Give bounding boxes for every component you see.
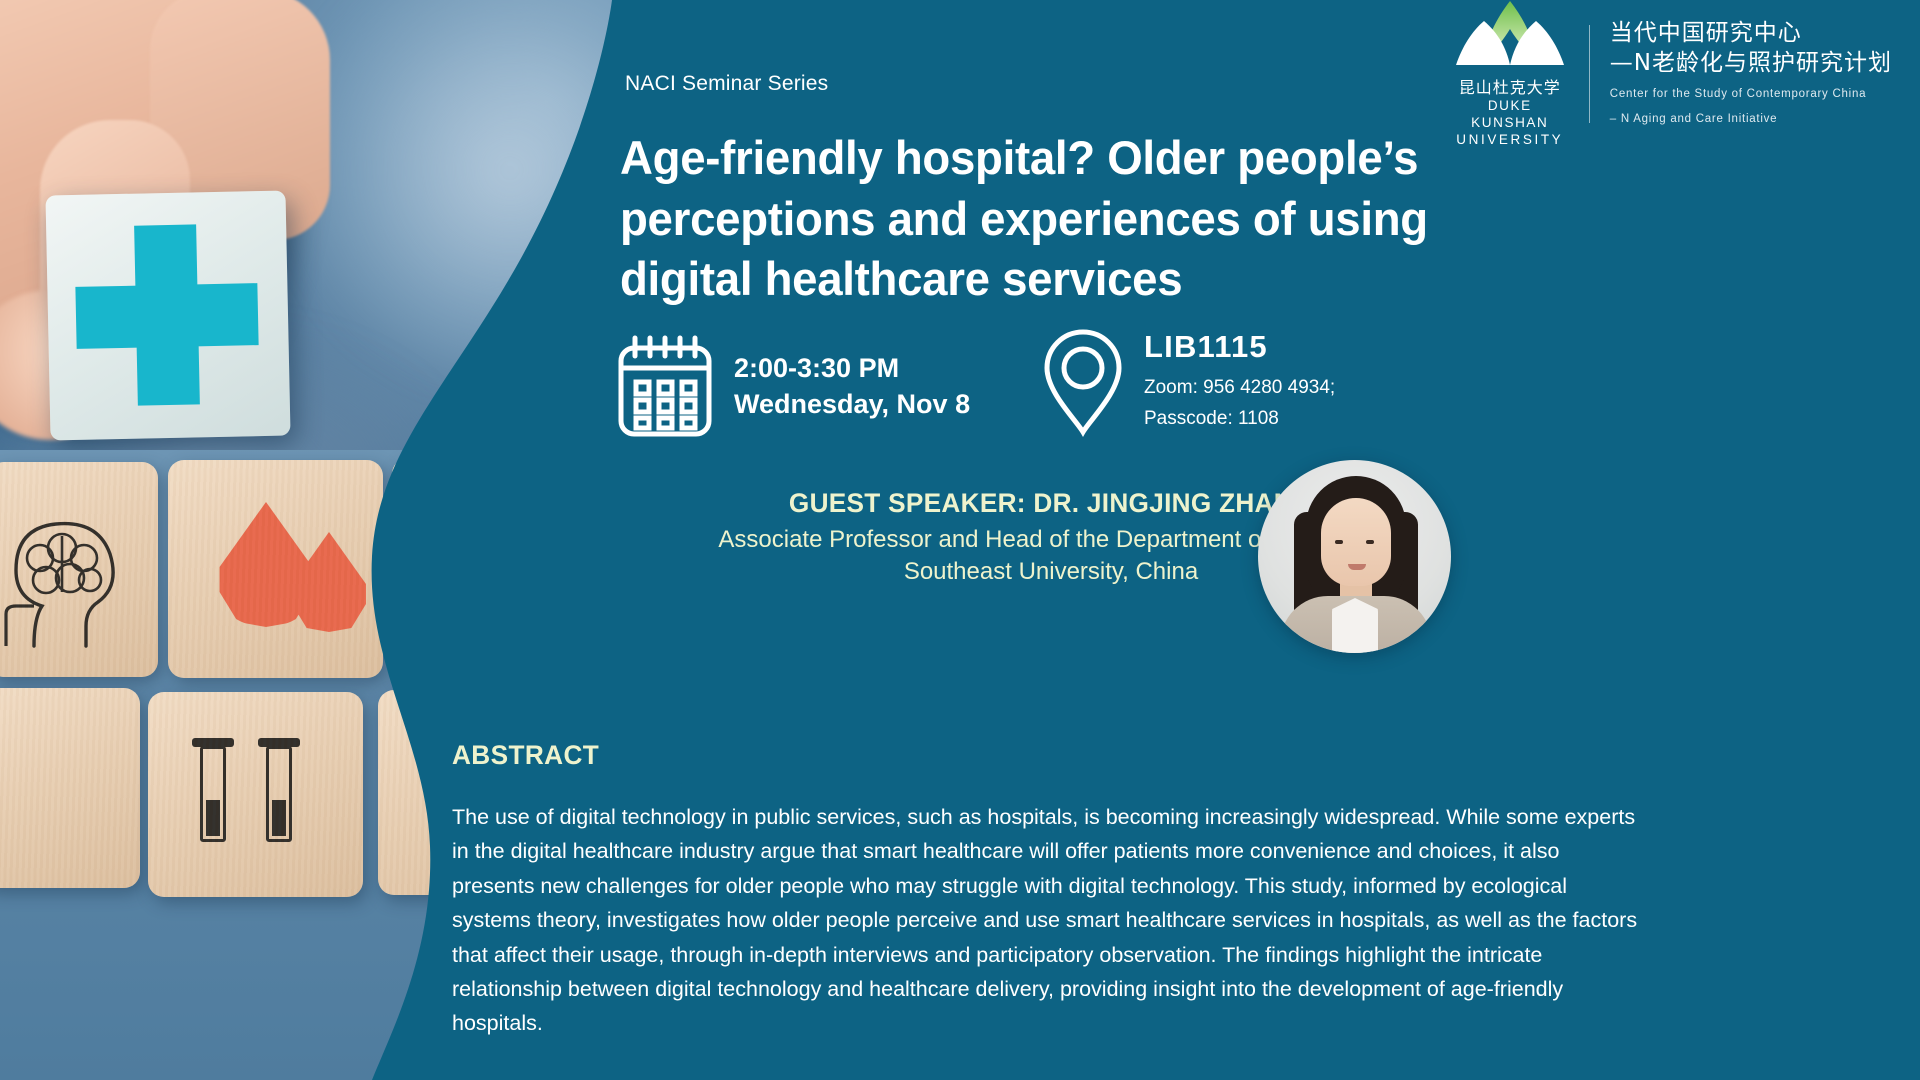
avatar-eye xyxy=(1335,540,1343,544)
series-kicker: NACI Seminar Series xyxy=(625,72,828,96)
datetime-text: 2:00-3:30 PM Wednesday, Nov 8 xyxy=(734,350,970,423)
wooden-cube xyxy=(392,458,542,678)
calendar-icon xyxy=(612,334,718,438)
syringe-icon xyxy=(200,746,226,842)
wooden-cube xyxy=(148,692,363,897)
abstract-heading: ABSTRACT xyxy=(452,740,599,771)
event-meta-row: 2:00-3:30 PM Wednesday, Nov 8 LIB1115 Zo… xyxy=(620,330,1520,450)
brain-head-icon xyxy=(0,506,144,656)
speaker-section: GUEST SPEAKER: DR. JINGJING ZHANG Associ… xyxy=(620,488,1500,589)
poster-content: NACI Seminar Series Age-friendly hospita… xyxy=(620,0,1920,1080)
seminar-poster: 昆山杜克大学 DUKE KUNSHAN UNIVERSITY 当代中国研究中心 … xyxy=(0,0,1920,1080)
avatar-shirt xyxy=(1332,598,1378,653)
avatar-face xyxy=(1321,498,1391,586)
syringe-icon xyxy=(266,746,292,842)
event-date: Wednesday, Nov 8 xyxy=(734,386,970,422)
avatar-mouth xyxy=(1348,564,1366,570)
location-text: LIB1115 Zoom: 956 4280 4934; Passcode: 1… xyxy=(1144,330,1335,435)
blood-drop-icon xyxy=(212,502,320,627)
event-zoom-id: Zoom: 956 4280 4934; xyxy=(1144,373,1335,404)
wooden-cube xyxy=(168,460,383,678)
page-title: Age-friendly hospital? Older people’s pe… xyxy=(620,128,1454,310)
map-pin-icon xyxy=(1038,326,1128,438)
avatar-eye xyxy=(1366,540,1374,544)
medical-cross-block xyxy=(45,191,290,441)
abstract-body: The use of digital technology in public … xyxy=(452,800,1642,1041)
wooden-cube xyxy=(0,462,158,677)
wooden-cube xyxy=(0,688,140,888)
medical-cross-icon xyxy=(75,283,258,349)
event-time: 2:00-3:30 PM xyxy=(734,350,970,386)
avatar xyxy=(1258,460,1451,653)
event-datetime: 2:00-3:30 PM Wednesday, Nov 8 xyxy=(612,334,970,438)
blood-drop-icon xyxy=(286,532,372,632)
event-room: LIB1115 xyxy=(1144,330,1335,364)
event-passcode: Passcode: 1108 xyxy=(1144,404,1335,435)
event-location: LIB1115 Zoom: 956 4280 4934; Passcode: 1… xyxy=(1038,326,1335,438)
